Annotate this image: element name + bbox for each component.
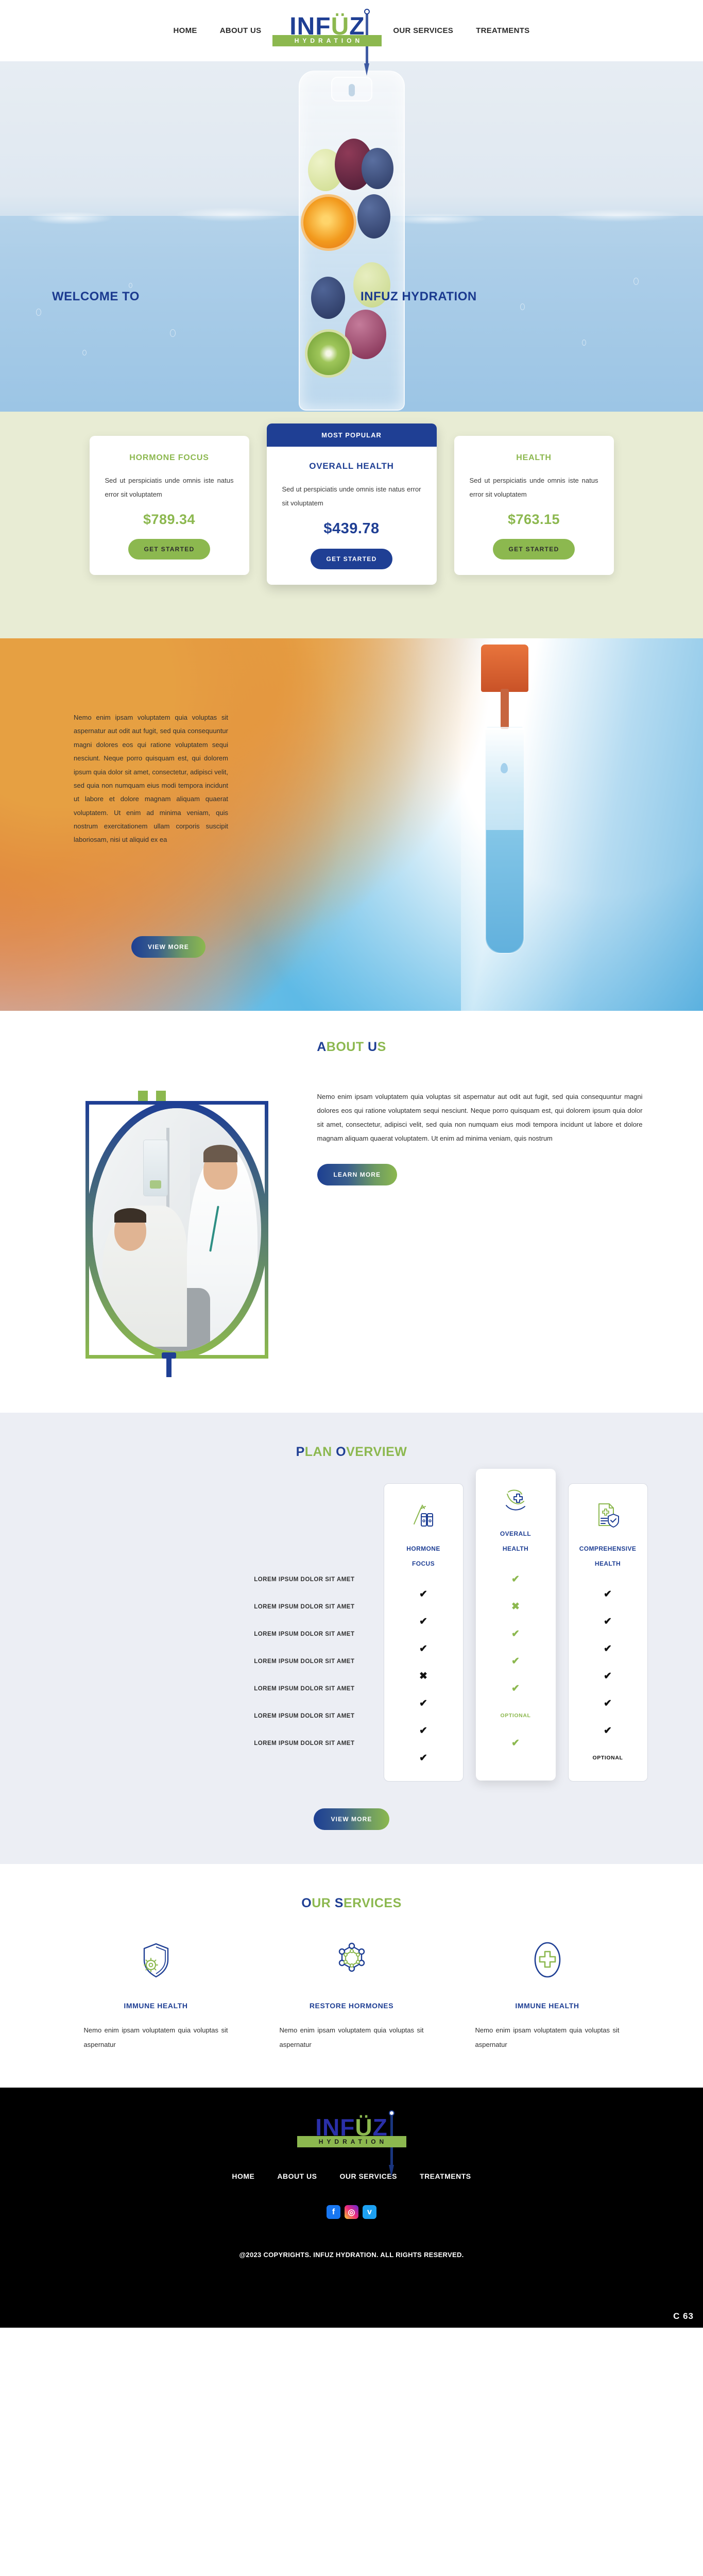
service-title: RESTORE HORMONES xyxy=(275,2002,429,2010)
plan-heading-lan: LAN xyxy=(305,1445,336,1459)
iv-clip-icon xyxy=(138,1091,148,1102)
iv-drip-chamber-image xyxy=(474,645,536,974)
footer-nav-item-about-us[interactable]: ABOUT US xyxy=(277,2172,317,2180)
nav-item-treatments[interactable]: TREATMENTS xyxy=(465,26,541,35)
iv-feature-section: Nemo enim ipsam voluptatem quia voluptas… xyxy=(0,638,703,1011)
bubble-icon xyxy=(170,329,176,337)
pricing-card-desc: Sed ut perspiciatis unde omnis iste natu… xyxy=(280,483,423,510)
plan-column-hormone-focus[interactable]: HORMONEFOCUS ✔ ✔ ✔ ✖ ✔ ✔ ✔ xyxy=(384,1483,464,1782)
instagram-icon[interactable]: ◎ xyxy=(345,2205,358,2219)
pricing-card-price: $439.78 xyxy=(280,520,423,537)
medical-cross-icon xyxy=(470,1939,625,1983)
nav-item-home[interactable]: HOME xyxy=(162,26,208,35)
logo-z: Z xyxy=(349,13,365,40)
pricing-card-overall-health[interactable]: MOST POPULAR OVERALL HEALTH Sed ut persp… xyxy=(267,423,437,585)
footer-logo-u: Ü xyxy=(355,2114,372,2141)
footer-logo-z: Z xyxy=(373,2114,388,2141)
plan-view-more-button[interactable]: VIEW MORE xyxy=(314,1808,390,1830)
footer-logo-wordmark: INFÜZ xyxy=(315,2116,387,2139)
blueberry-fruit-icon xyxy=(311,277,345,319)
copyright-text: @2023 COPYRIGHTS. INFUZ HYDRATION. ALL R… xyxy=(0,2251,703,2259)
plan-cell: ✔ xyxy=(389,1635,458,1663)
pricing-card-price: $789.34 xyxy=(103,512,236,528)
feature-paragraph: Nemo enim ipsam voluptatem quia voluptas… xyxy=(74,711,228,847)
logo-u: Ü xyxy=(331,13,350,40)
bubble-icon xyxy=(633,278,639,285)
about-section: ABOUT US xyxy=(0,1011,703,1413)
plan-col-title-line1: HORMONE xyxy=(406,1545,440,1552)
service-card-immune-health-2[interactable]: IMMUNE HEALTH Nemo enim ipsam voluptatem… xyxy=(470,1939,625,2052)
social-links: f ◎ ᴠ xyxy=(0,2205,703,2219)
plan-col-title-line1: OVERALL xyxy=(500,1530,531,1537)
plan-column-title: OVERALLHEALTH xyxy=(481,1527,551,1556)
site-header: HOME ABOUT US INFÜZ HYDRATION OUR SERVIC… xyxy=(0,0,703,61)
logo-inf: INF xyxy=(289,13,331,40)
about-image-frame xyxy=(61,1080,287,1369)
footer-nav-item-home[interactable]: HOME xyxy=(232,2172,254,2180)
iv-cap xyxy=(481,645,528,692)
plan-overview-section: PLAN OVERVIEW LOREM IPSUM DOLOR SIT AMET… xyxy=(0,1413,703,1864)
corner-code: C 63 xyxy=(673,2311,694,2321)
blueberry-fruit-icon xyxy=(362,148,393,189)
most-popular-badge: MOST POPULAR xyxy=(267,423,437,447)
plan-cell: ✖ xyxy=(389,1663,458,1690)
service-card-immune-health[interactable]: IMMUNE HEALTH Nemo enim ipsam voluptatem… xyxy=(79,1939,233,2052)
learn-more-button[interactable]: LEARN MORE xyxy=(317,1164,398,1185)
plan-cell: ✖ xyxy=(481,1593,551,1620)
footer-logo[interactable]: INFÜZ HYDRATION xyxy=(297,2116,406,2147)
plan-col-title-line2: HEALTH xyxy=(503,1545,528,1552)
about-photo-oval xyxy=(85,1101,268,1359)
plan-row-label: LOREM IPSUM DOLOR SIT AMET xyxy=(96,1675,371,1702)
footer-nav: HOME ABOUT US OUR SERVICES TREATMENTS xyxy=(0,2172,703,2180)
service-title: IMMUNE HEALTH xyxy=(79,2002,233,2010)
plan-cell-optional: OPTIONAL xyxy=(500,1713,530,1719)
services-heading-s: S xyxy=(335,1896,344,1910)
plan-cell: ✔ xyxy=(389,1608,458,1635)
plan-row-label: LOREM IPSUM DOLOR SIT AMET xyxy=(96,1620,371,1648)
bubble-icon xyxy=(82,350,87,355)
about-photo xyxy=(93,1108,261,1351)
services-heading-o: O xyxy=(301,1896,312,1910)
get-started-button[interactable]: GET STARTED xyxy=(128,539,210,560)
view-more-button[interactable]: VIEW MORE xyxy=(131,936,205,958)
plan-column-title: HORMONEFOCUS xyxy=(389,1541,458,1571)
nav-item-about-us[interactable]: ABOUT US xyxy=(209,26,273,35)
iv-stem xyxy=(501,689,509,729)
plan-heading-o: O xyxy=(336,1445,346,1459)
plan-cell: ✔ xyxy=(574,1581,642,1608)
plan-row-label: LOREM IPSUM DOLOR SIT AMET xyxy=(96,1566,371,1593)
document-shield-icon xyxy=(574,1496,642,1535)
plan-cell: ✔ xyxy=(574,1717,642,1744)
plan-heading-p: P xyxy=(296,1445,305,1459)
facebook-icon[interactable]: f xyxy=(327,2205,340,2219)
plan-cell: ✔ xyxy=(389,1744,458,1772)
plan-cell: ✔ xyxy=(574,1635,642,1663)
primary-nav: HOME ABOUT US INFÜZ HYDRATION OUR SERVIC… xyxy=(162,15,541,47)
plan-column-title: COMPREHENSIVEHEALTH xyxy=(574,1541,642,1571)
iv-stand-base xyxy=(166,1355,172,1377)
syringe-plunger-icon xyxy=(389,2110,395,2116)
orange-slice-icon xyxy=(301,194,356,251)
kiwi-slice-icon xyxy=(305,329,352,378)
about-heading-u: U xyxy=(368,1040,378,1054)
logo-wordmark: INFÜZ xyxy=(289,15,365,39)
bubble-icon xyxy=(36,309,41,316)
plan-cell-optional: OPTIONAL xyxy=(592,1755,623,1761)
footer-logo-inf: INF xyxy=(315,2114,355,2141)
service-title: IMMUNE HEALTH xyxy=(470,2002,625,2010)
plan-cell: ✔ xyxy=(574,1608,642,1635)
iv-fluid xyxy=(486,830,523,953)
plan-row-label: LOREM IPSUM DOLOR SIT AMET xyxy=(96,1593,371,1620)
plan-cell: ✔ xyxy=(481,1648,551,1675)
pricing-card-desc: Sed ut perspiciatis unde omnis iste natu… xyxy=(468,474,601,501)
hero-title-left: WELCOME TO xyxy=(52,290,140,304)
about-paragraph: Nemo enim ipsam voluptatem quia voluptas… xyxy=(317,1090,643,1145)
syringe-plunger-icon xyxy=(364,9,370,14)
plan-column-overall-health[interactable]: OVERALLHEALTH ✔ ✖ ✔ ✔ ✔ OPTIONAL ✔ xyxy=(476,1469,556,1781)
pricing-card-price: $763.15 xyxy=(468,512,601,528)
bubble-icon xyxy=(520,303,525,310)
get-started-button[interactable]: GET STARTED xyxy=(311,549,392,569)
bottle-neck xyxy=(331,77,372,101)
services-heading-ur: UR xyxy=(312,1896,335,1910)
plan-feature-labels: LOREM IPSUM DOLOR SIT AMET LOREM IPSUM D… xyxy=(96,1483,371,1757)
about-heading-bout: BOUT xyxy=(327,1040,368,1054)
plan-cell: ✔ xyxy=(481,1730,551,1757)
plan-heading-verview: VERVIEW xyxy=(346,1445,407,1459)
plan-col-title-line1: COMPREHENSIVE xyxy=(579,1545,637,1552)
hand-heart-cross-icon xyxy=(481,1481,551,1520)
iv-droplet-icon xyxy=(501,763,508,773)
iv-clip-icon xyxy=(156,1091,166,1102)
shield-virus-icon xyxy=(79,1939,233,1983)
services-heading-ervices: ERVICES xyxy=(344,1896,402,1910)
about-heading: ABOUT US xyxy=(0,1040,703,1055)
plan-cell: ✔ xyxy=(574,1690,642,1717)
services-section: OUR SERVICES IMMUNE HEALTH Nemo enim ips… xyxy=(0,1864,703,2088)
molecule-icon xyxy=(275,1939,429,1983)
about-heading-a: A xyxy=(317,1040,327,1054)
plan-cell: ✔ xyxy=(481,1566,551,1593)
pricing-card-health[interactable]: HEALTH Sed ut perspiciatis unde omnis is… xyxy=(454,436,614,575)
plan-cell: ✔ xyxy=(481,1620,551,1648)
site-logo[interactable]: INFÜZ HYDRATION xyxy=(272,15,382,47)
bubble-icon xyxy=(129,283,132,288)
site-footer: INFÜZ HYDRATION HOME ABOUT US OUR SERVIC… xyxy=(0,2088,703,2328)
twitter-icon[interactable]: ᴠ xyxy=(363,2205,376,2219)
pricing-cards: HORMONE FOCUS Sed ut perspiciatis unde o… xyxy=(87,436,617,585)
plan-row-label: LOREM IPSUM DOLOR SIT AMET xyxy=(96,1702,371,1730)
plan-cell: ✔ xyxy=(389,1717,458,1744)
plan-comparison-table: LOREM IPSUM DOLOR SIT AMET LOREM IPSUM D… xyxy=(56,1483,648,1830)
landing-page: HOME ABOUT US INFÜZ HYDRATION OUR SERVIC… xyxy=(0,0,703,2328)
service-desc: Nemo enim ipsam voluptatem quia voluptas… xyxy=(79,2023,233,2052)
patient-hair xyxy=(114,1208,146,1223)
services-heading: OUR SERVICES xyxy=(0,1896,703,1911)
pricing-card-title: OVERALL HEALTH xyxy=(280,461,423,471)
plan-col-title-line2: FOCUS xyxy=(412,1560,435,1567)
plan-cell: ✔ xyxy=(574,1663,642,1690)
pricing-card-title: HEALTH xyxy=(468,453,601,463)
plan-cell: ✔ xyxy=(389,1581,458,1608)
hero-section: WELCOME TO INFUZ HYDRATION xyxy=(0,61,703,412)
about-heading-s: S xyxy=(378,1040,386,1054)
hero-title-right: INFUZ HYDRATION xyxy=(361,290,477,304)
vial-hand-icon xyxy=(389,1496,458,1535)
bubble-icon xyxy=(582,340,586,346)
pricing-section: HORMONE FOCUS Sed ut perspiciatis unde o… xyxy=(0,412,703,638)
plan-cell: OPTIONAL xyxy=(481,1702,551,1730)
plan-cell: OPTIONAL xyxy=(574,1744,642,1772)
infused-water-bottle-image xyxy=(299,71,405,411)
plan-heading: PLAN OVERVIEW xyxy=(0,1445,703,1460)
doctor-hair xyxy=(203,1145,237,1162)
plan-column-comprehensive-health[interactable]: COMPREHENSIVEHEALTH ✔ ✔ ✔ ✔ ✔ ✔ OPTIONAL xyxy=(568,1483,648,1782)
get-started-button[interactable]: GET STARTED xyxy=(493,539,574,560)
service-desc: Nemo enim ipsam voluptatem quia voluptas… xyxy=(275,2023,429,2052)
footer-nav-item-treatments[interactable]: TREATMENTS xyxy=(420,2172,471,2180)
pricing-card-title: HORMONE FOCUS xyxy=(103,453,236,463)
plan-col-title-line2: HEALTH xyxy=(595,1560,621,1567)
service-card-restore-hormones[interactable]: RESTORE HORMONES Nemo enim ipsam volupta… xyxy=(275,1939,429,2052)
nav-item-our-services[interactable]: OUR SERVICES xyxy=(382,26,465,35)
pricing-card-desc: Sed ut perspiciatis unde omnis iste natu… xyxy=(103,474,236,501)
plan-cell: ✔ xyxy=(481,1675,551,1702)
iv-bag-icon xyxy=(143,1140,168,1196)
blueberry-fruit-icon xyxy=(357,194,390,239)
service-desc: Nemo enim ipsam voluptatem quia voluptas… xyxy=(470,2023,625,2052)
plan-cell: ✔ xyxy=(389,1690,458,1717)
pricing-card-hormone-focus[interactable]: HORMONE FOCUS Sed ut perspiciatis unde o… xyxy=(90,436,249,575)
plan-row-label: LOREM IPSUM DOLOR SIT AMET xyxy=(96,1730,371,1757)
plan-row-label: LOREM IPSUM DOLOR SIT AMET xyxy=(96,1648,371,1675)
